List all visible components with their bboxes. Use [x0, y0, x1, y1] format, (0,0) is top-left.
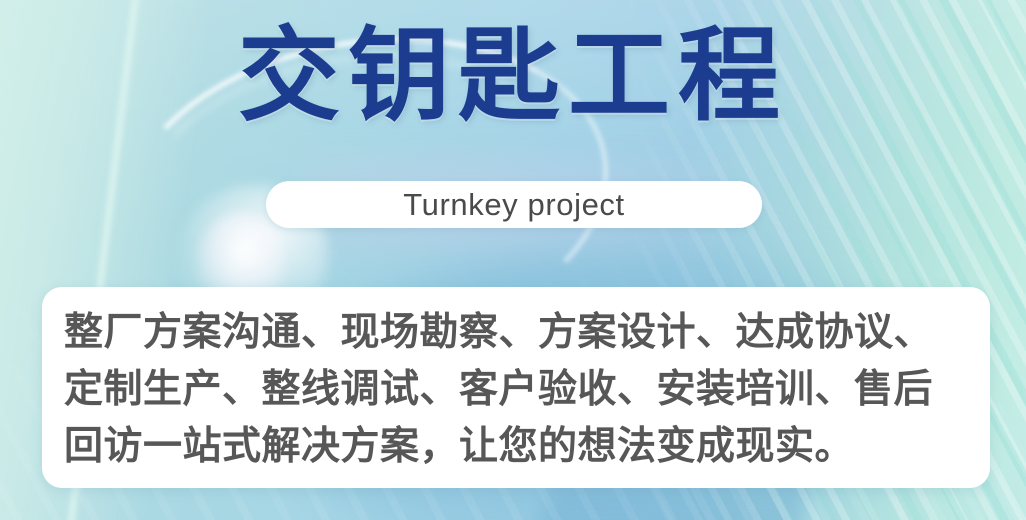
banner-headline: 交钥匙工程: [0, 22, 1026, 132]
description-card: 整厂方案沟通、现场勘察、方案设计、达成协议、 定制生产、整线调试、客户验收、安装…: [42, 287, 990, 488]
description-line: 整厂方案沟通、现场勘察、方案设计、达成协议、: [56, 304, 976, 361]
description-lines: 整厂方案沟通、现场勘察、方案设计、达成协议、 定制生产、整线调试、客户验收、安装…: [42, 304, 990, 475]
turnkey-project-banner: 交钥匙工程 Turnkey project 整厂方案沟通、现场勘察、方案设计、达…: [0, 0, 1026, 520]
subtitle-text: Turnkey project: [403, 187, 625, 223]
banner-content: 交钥匙工程 Turnkey project 整厂方案沟通、现场勘察、方案设计、达…: [0, 0, 1026, 520]
subtitle-pill: Turnkey project: [266, 181, 762, 228]
description-line: 定制生产、整线调试、客户验收、安装培训、售后: [56, 361, 976, 418]
description-line: 回访一站式解决方案，让您的想法变成现实。: [56, 418, 976, 475]
